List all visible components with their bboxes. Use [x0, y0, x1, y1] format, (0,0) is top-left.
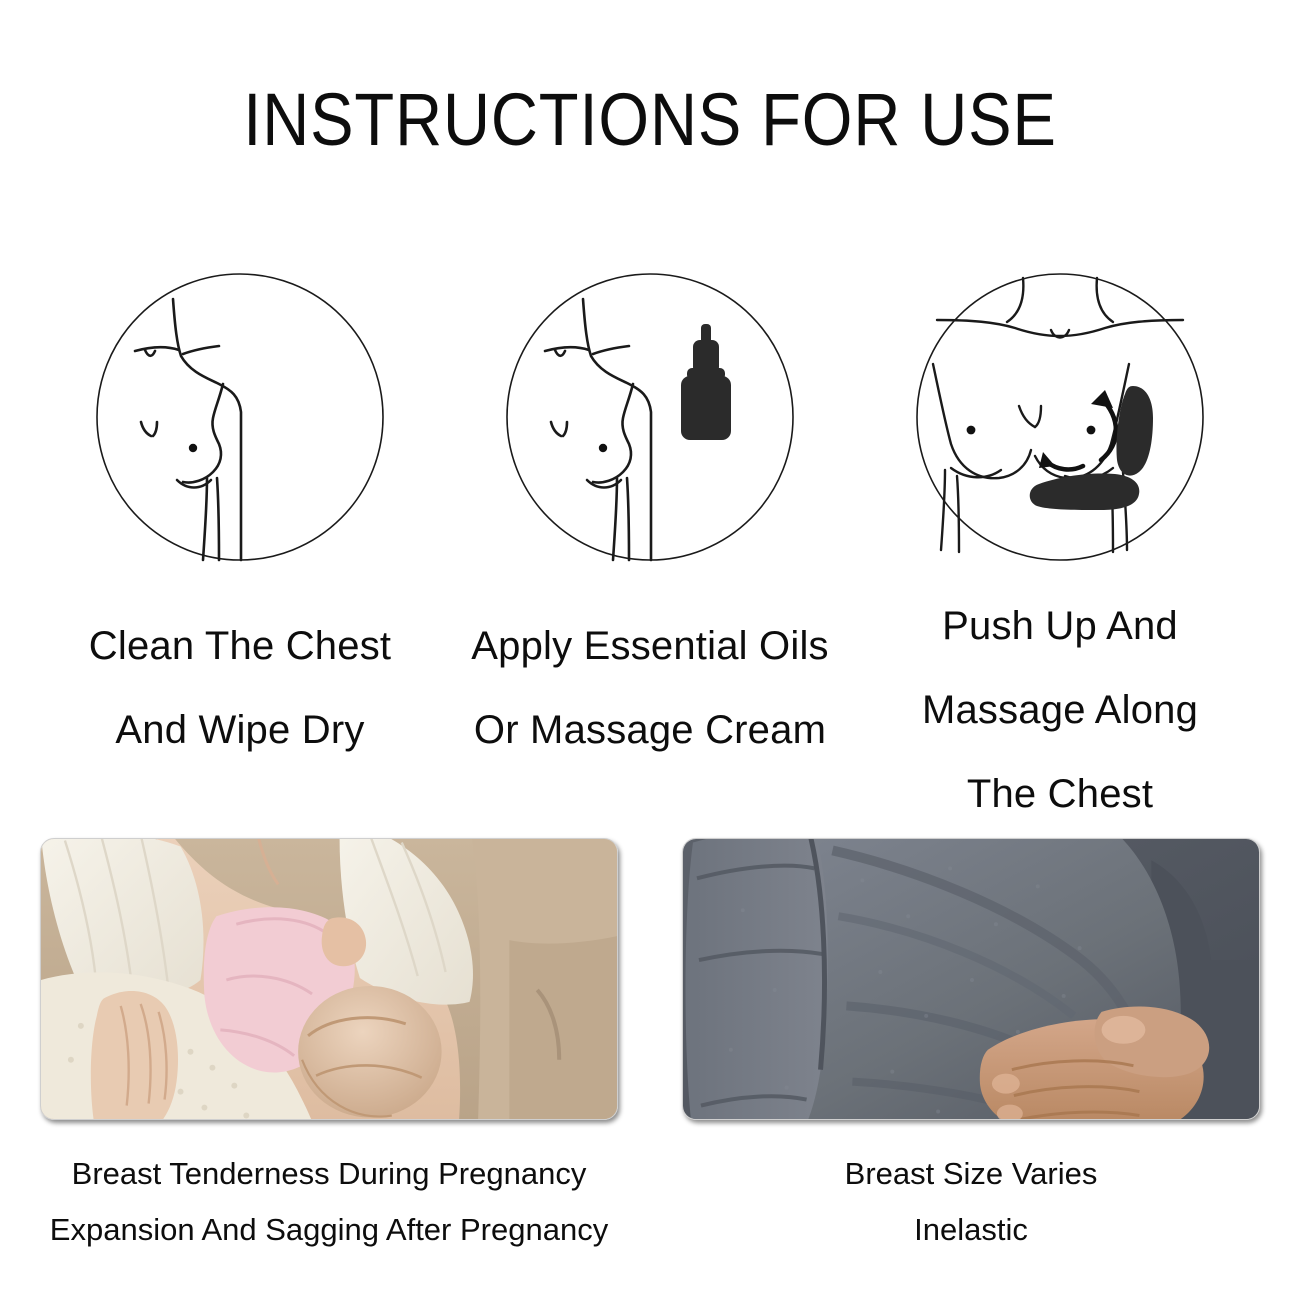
photo-block-1: Breast Tenderness During Pregnancy Expan…: [38, 838, 620, 1258]
torso-profile-icon: [95, 272, 385, 562]
step-caption-3: Push Up And Massage Along The Chest: [860, 584, 1260, 836]
step-caption-line: Massage Along: [860, 668, 1260, 752]
step-caption-line: Push Up And: [860, 584, 1260, 668]
photo-caption-1: Breast Tenderness During Pregnancy Expan…: [38, 1146, 620, 1258]
step-caption-line: Or Massage Cream: [450, 688, 850, 772]
step-caption-1: Clean The Chest And Wipe Dry: [40, 604, 440, 772]
step-caption-line: The Chest: [860, 752, 1260, 836]
step-caption-line: Clean The Chest: [40, 604, 440, 688]
step-item-1: Clean The Chest And Wipe Dry: [40, 272, 440, 772]
photos-row: Breast Tenderness During Pregnancy Expan…: [0, 838, 1300, 1258]
photo-caption-line: Inelastic: [680, 1202, 1262, 1258]
photo-caption-2: Breast Size Varies Inelastic: [680, 1146, 1262, 1258]
photo-frame-1: [40, 838, 618, 1120]
torso-front-massage-arrows-icon: [915, 272, 1205, 562]
photo-caption-line: Breast Tenderness During Pregnancy: [38, 1146, 620, 1202]
page-title: INSTRUCTIONS FOR USE: [78, 78, 1222, 162]
steps-row: Clean The Chest And Wipe Dry: [0, 272, 1300, 832]
photo-caption-line: Breast Size Varies: [680, 1146, 1262, 1202]
step-caption-line: Apply Essential Oils: [450, 604, 850, 688]
step-caption-2: Apply Essential Oils Or Massage Cream: [450, 604, 850, 772]
step-item-3: Push Up And Massage Along The Chest: [860, 272, 1260, 836]
torso-profile-with-dropper-bottle-icon: [505, 272, 795, 562]
instructions-page: INSTRUCTIONS FOR USE: [0, 0, 1300, 1300]
step-caption-line: And Wipe Dry: [40, 688, 440, 772]
person-in-gray-top-holding-chest-photo: [683, 839, 1259, 1119]
photo-frame-2: [682, 838, 1260, 1120]
photo-block-2: Breast Size Varies Inelastic: [680, 838, 1262, 1258]
breastfeeding-mother-and-baby-photo: [41, 839, 617, 1119]
photo-caption-line: Expansion And Sagging After Pregnancy: [38, 1202, 620, 1258]
step-item-2: Apply Essential Oils Or Massage Cream: [450, 272, 850, 772]
